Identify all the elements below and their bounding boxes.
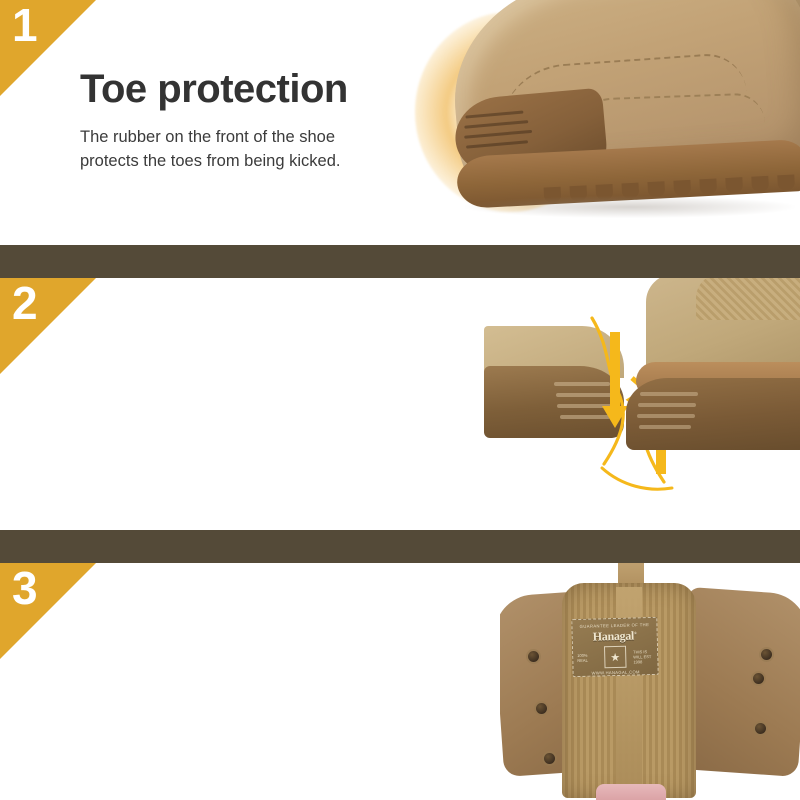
lace-eyelet	[753, 673, 764, 684]
star-icon: ★	[604, 646, 627, 669]
lace-eyelet	[761, 649, 772, 660]
section-divider-1	[0, 245, 800, 278]
boot-drop-shadow	[465, 196, 795, 218]
section-1-text-block: Toe protection The rubber on the front o…	[80, 68, 348, 174]
brand-label-right-text: THIS IS WILL EST 1998	[633, 649, 653, 665]
section-2-number-badge: 2	[0, 278, 96, 374]
section-divider-2	[0, 530, 800, 563]
section-number: 1	[12, 2, 37, 48]
brand-name: Hanagal®	[573, 628, 657, 645]
brand-label-middle-row: 100% REAL ★ THIS IS WILL EST 1998	[573, 645, 658, 669]
registered-mark: ®	[634, 630, 637, 635]
brand-website-text: WWW.HANAGAL.COM	[574, 669, 658, 676]
page-title: Toe protection	[80, 68, 348, 110]
shoe-removal-photo	[470, 278, 800, 530]
infographic-page: 1 Toe protection The rubber on the front…	[0, 0, 800, 800]
section-1-description: The rubber on the front of the shoe prot…	[80, 126, 348, 174]
boot-tongue-photo: GUARANTEE LEADER OF THE Hanagal® 100% RE…	[500, 563, 800, 800]
brand-label-left-text: 100% REAL	[577, 652, 597, 663]
description-line: protects the toes from being kicked.	[80, 150, 348, 174]
description-line: The rubber on the front of the shoe	[80, 126, 348, 150]
section-number: 3	[12, 565, 37, 611]
lace-eyelet	[528, 651, 539, 662]
brand-name-text: Hanagal	[593, 629, 635, 644]
right-boot-heel-block	[626, 278, 800, 474]
feature-section-2: 2 Assist in shoe removal design The hook…	[0, 278, 800, 530]
feature-section-1: 1 Toe protection The rubber on the front…	[0, 0, 800, 245]
lace-eyelet	[755, 723, 766, 734]
brand-label: GUARANTEE LEADER OF THE Hanagal® 100% RE…	[571, 617, 658, 677]
boot-toe-photo	[405, 0, 800, 245]
boot-sock-liner	[596, 784, 666, 800]
section-3-number-badge: 3	[0, 563, 96, 659]
feature-section-3: GUARANTEE LEADER OF THE Hanagal® 100% RE…	[0, 563, 800, 800]
lace-eyelet	[544, 753, 555, 764]
right-boot-mesh-panel	[696, 278, 800, 320]
right-boot-rubber-hook	[626, 378, 800, 450]
lace-eyelet	[536, 703, 547, 714]
section-number: 2	[12, 280, 37, 326]
